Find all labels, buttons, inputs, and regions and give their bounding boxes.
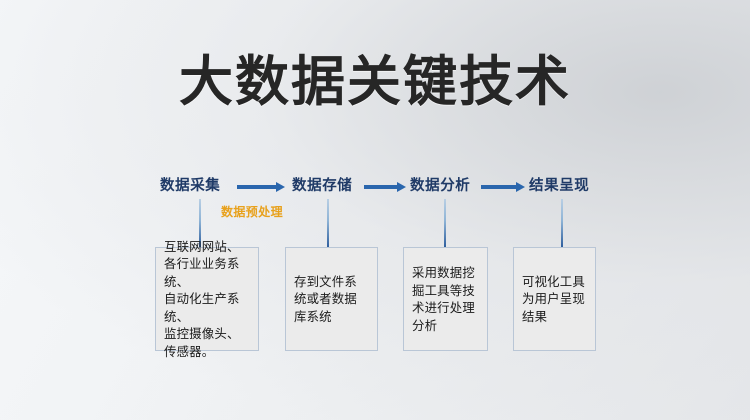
detail-box-store-text: 存到文件系统或者数据库系统 [286, 273, 377, 326]
arrow-right-icon-analyze-to-present [481, 182, 525, 192]
arrow-shaft [237, 185, 276, 189]
stage-label-analyze: 数据分析 [410, 177, 470, 195]
arrow-right-icon-store-to-analyze [364, 182, 406, 192]
slide-canvas: 大数据关键技术 数据采集 数据存储 数据分析 结果呈现 数据预处理 互联网网站、… [0, 0, 750, 420]
page-title: 大数据关键技术 [0, 52, 750, 112]
detail-box-present: 可视化工具为用户呈现结果 [513, 247, 596, 351]
stage-label-collect: 数据采集 [160, 177, 220, 195]
connector-line-store [327, 199, 329, 247]
connector-line-analyze [444, 199, 446, 247]
detail-box-analyze-text: 采用数据挖掘工具等技术进行处理分析 [404, 264, 487, 334]
detail-box-collect-text: 互联网网站、 各行业业务系统、 自动化生产系统、 监控摄像头、 传感器。 [156, 238, 258, 361]
stage-label-store: 数据存储 [292, 177, 352, 195]
arrow-head [397, 182, 406, 192]
arrow-head [276, 182, 285, 192]
detail-box-present-text: 可视化工具为用户呈现结果 [514, 273, 595, 326]
connector-line-present [561, 199, 563, 247]
arrow-shaft [364, 185, 397, 189]
arrow-shaft [481, 185, 516, 189]
sub-label-preprocess: 数据预处理 [221, 203, 283, 220]
detail-box-analyze: 采用数据挖掘工具等技术进行处理分析 [403, 247, 488, 351]
arrow-head [516, 182, 525, 192]
stage-label-present: 结果呈现 [529, 177, 589, 195]
detail-box-store: 存到文件系统或者数据库系统 [285, 247, 378, 351]
arrow-right-icon-collect-to-store [237, 182, 285, 192]
detail-box-collect: 互联网网站、 各行业业务系统、 自动化生产系统、 监控摄像头、 传感器。 [155, 247, 259, 351]
